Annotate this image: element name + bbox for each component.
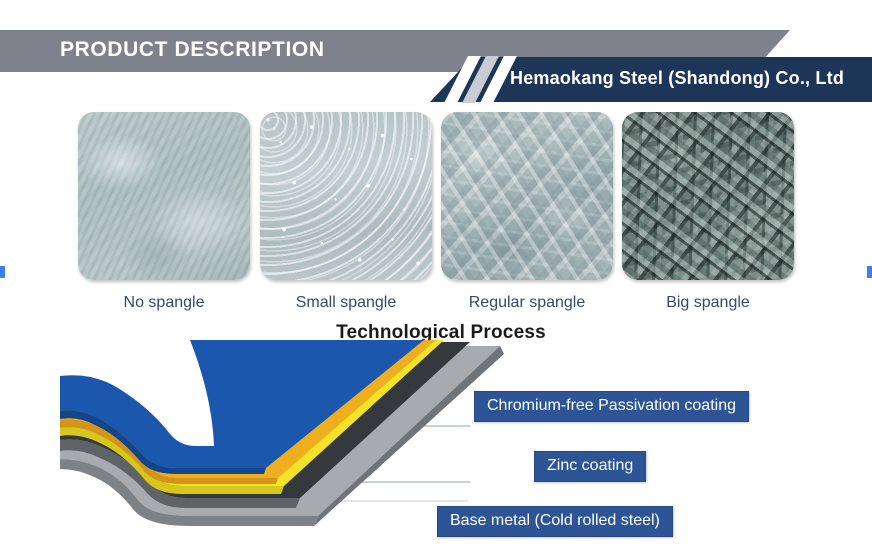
- swatch-image-small-spangle: [260, 112, 432, 280]
- swatch-image-regular-spangle: [441, 112, 613, 280]
- swatch-item-big-spangle[interactable]: Big spangle: [622, 112, 794, 312]
- product-description-page: PRODUCT DESCRIPTION Hemaokang Steel (Sha…: [0, 0, 872, 551]
- page-title: PRODUCT DESCRIPTION: [60, 38, 325, 62]
- swatch-item-regular-spangle[interactable]: Regular spangle: [441, 112, 613, 312]
- swatch-label: Big spangle: [622, 294, 794, 312]
- callout-zinc[interactable]: Zinc coating: [534, 451, 646, 482]
- swatch-item-small-spangle[interactable]: Small spangle: [260, 112, 432, 312]
- swatch-label: No spangle: [78, 294, 250, 312]
- company-name: Hemaokang Steel (Shandong) Co., Ltd: [510, 68, 844, 89]
- callout-passivation[interactable]: Chromium-free Passivation coating: [474, 391, 749, 422]
- swatch-image-no-spangle: [78, 112, 250, 280]
- swatch-label: Regular spangle: [441, 294, 613, 312]
- page-header: PRODUCT DESCRIPTION Hemaokang Steel (Sha…: [0, 0, 872, 112]
- swatch-image-big-spangle: [622, 112, 794, 280]
- coating-layer-diagram: [0, 340, 872, 551]
- spangle-swatch-row: No spangle Small spangle Regular spangle…: [0, 112, 872, 312]
- swatch-item-no-spangle[interactable]: No spangle: [78, 112, 250, 312]
- callout-base-metal[interactable]: Base metal (Cold rolled steel): [437, 506, 673, 537]
- swatch-label: Small spangle: [260, 294, 432, 312]
